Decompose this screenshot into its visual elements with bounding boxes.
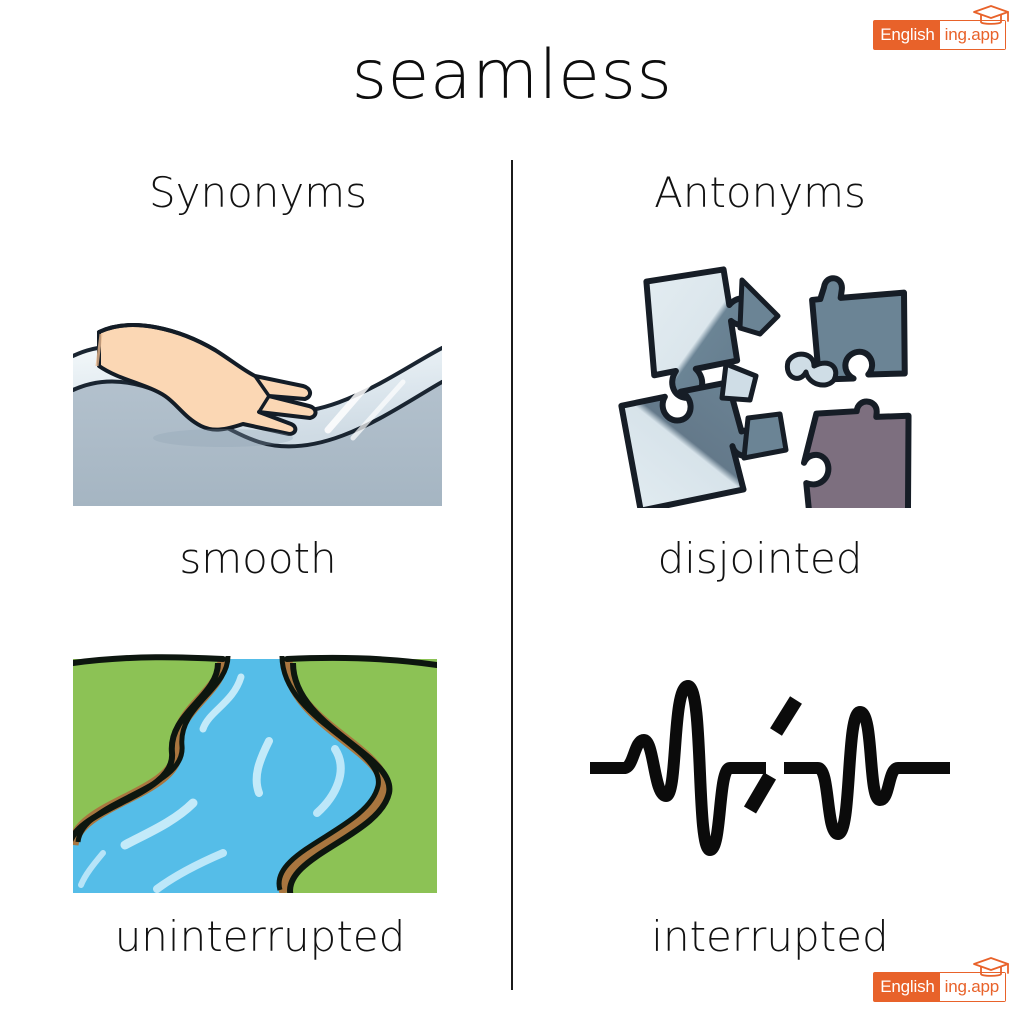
illustration-uninterrupted	[73, 653, 437, 893]
column-heading-synonyms: Synonyms	[72, 168, 444, 217]
column-divider	[511, 160, 513, 990]
illustration-smooth	[73, 320, 442, 506]
word-label-interrupted: interrupted	[570, 912, 970, 961]
graduation-cap-icon	[971, 956, 1011, 980]
word-label-smooth: smooth	[72, 534, 444, 583]
illustration-disjointed	[600, 258, 930, 508]
logo-text-english: English	[874, 973, 939, 1001]
word-label-disjointed: disjointed	[574, 534, 946, 583]
column-heading-antonyms: Antonyms	[574, 168, 946, 217]
graduation-cap-icon	[971, 4, 1011, 28]
page-title: seamless	[0, 36, 1024, 115]
brand-logo-bottom[interactable]: English ing.app	[873, 972, 1006, 1002]
word-label-uninterrupted: uninterrupted	[40, 912, 480, 961]
illustration-interrupted	[590, 668, 950, 880]
logo-badge: English ing.app	[873, 972, 1006, 1002]
word-card: English ing.app seamless Synonyms Antony…	[0, 0, 1024, 1024]
